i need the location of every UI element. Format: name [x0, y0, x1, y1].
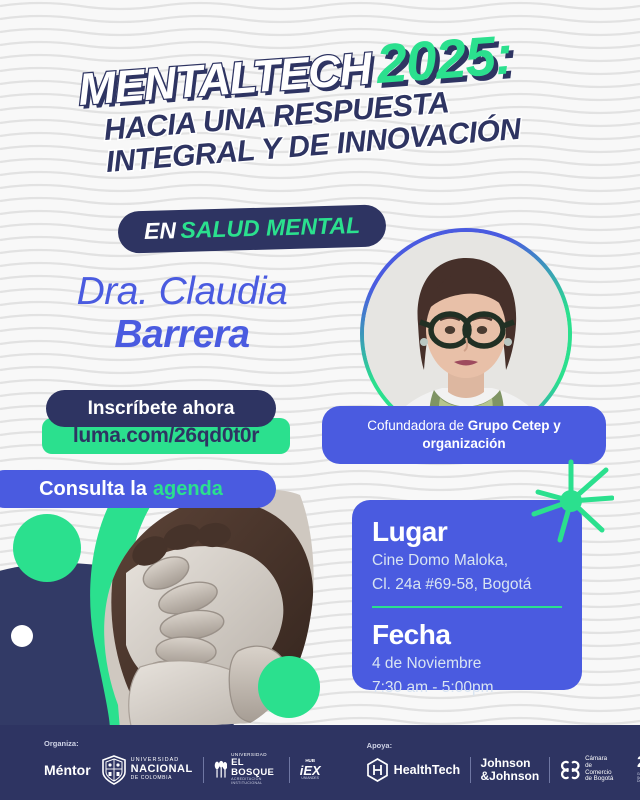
unal-crest-icon: [101, 755, 127, 785]
organizers-group: Organiza: Méntor UNIVERSID: [44, 739, 321, 785]
ccb-line-3: de Bogotá: [585, 776, 615, 783]
healthtech-logo: HealthTech: [367, 758, 460, 782]
title-year-text: 2025:: [374, 23, 514, 95]
event-poster: MENTALTECH2025: HACIA UNA RESPUESTA INTE…: [0, 0, 640, 800]
title-subject-pill: EN SALUD MENTAL: [117, 204, 386, 253]
supporters-group: Apoya: HealthTech Johnson &Johnson: [367, 741, 640, 783]
caption-plain: Cofundadora de: [367, 418, 468, 433]
el-bosque-text: UNIVERSIDAD EL BOSQUE ACREDITACIÓN INSTI…: [231, 753, 279, 785]
speaker-last-name: Barrera: [32, 313, 332, 358]
date-line-1: 4 de Noviembre: [372, 654, 562, 675]
speaker-name-block: Dra. Claudia Barrera: [32, 272, 332, 358]
johnson-johnson-logo: Johnson &Johnson: [481, 757, 540, 782]
ccb-text: Cámara de Comercio de Bogotá: [585, 756, 615, 784]
bosque-bottom: ACREDITACIÓN INSTITUCIONAL: [231, 778, 279, 786]
pill-text-salud-mental: SALUD MENTAL: [180, 212, 360, 243]
date-line-2: 7:30 am - 5:00pm: [372, 678, 562, 699]
speaker-first-name: Dra. Claudia: [32, 272, 332, 313]
pill-text-en: EN: [144, 217, 177, 244]
green-sparkle-icon: [528, 458, 614, 544]
apoya-label: Apoya:: [367, 741, 640, 750]
place-line-2: Cl. 24a #69-58, Bogotá: [372, 575, 562, 596]
camara-comercio-logo: Cámara de Comercio de Bogotá: [560, 756, 615, 784]
el-bosque-tree-icon: [214, 758, 228, 782]
jj-line-1: Johnson: [481, 757, 540, 769]
unal-text: UNIVERSIDAD NACIONAL DE COLOMBIA: [131, 758, 193, 781]
bosque-mid: EL BOSQUE: [231, 758, 279, 778]
iex-bottom: UNIANDES: [300, 777, 321, 780]
organiza-label: Organiza:: [44, 739, 321, 748]
place-line-1: Cine Domo Maloka,: [372, 551, 562, 572]
agenda-label-white: Consulta la: [39, 478, 147, 501]
iex-mid: iEX: [300, 764, 321, 777]
jj-line-2: &Johnson: [481, 770, 540, 782]
unal-logo: UNIVERSIDAD NACIONAL DE COLOMBIA: [101, 755, 193, 785]
ccb-line-2: de Comercio: [585, 763, 615, 777]
agenda-button[interactable]: Consulta la agenda: [0, 470, 276, 508]
ccb-mark-icon: [560, 758, 581, 782]
organizer-logos: Méntor UNIVERSIDAD NACIONAL: [44, 753, 321, 785]
unal-mid: NACIONAL: [131, 764, 193, 776]
supporter-logos: HealthTech Johnson &Johnson: [367, 755, 640, 783]
el-bosque-logo: UNIVERSIDAD EL BOSQUE ACREDITACIÓN INSTI…: [214, 753, 279, 785]
footer-separator: [203, 757, 204, 783]
mentor-logo: Méntor: [44, 762, 91, 778]
speaker-role-caption: Cofundadora de Grupo Cetep y organizació…: [322, 406, 606, 464]
footer-separator: [289, 757, 290, 783]
date-title: Fecha: [372, 619, 562, 651]
sponsor-footer: Organiza: Méntor UNIVERSID: [0, 725, 640, 800]
hub-iex-logo: HUB iEX UNIANDES: [300, 759, 321, 780]
register-button[interactable]: Inscríbete ahora: [46, 390, 276, 427]
agenda-label-green: agenda: [153, 478, 223, 501]
info-divider: [372, 606, 562, 608]
healthtech-hexagon-icon: [367, 758, 388, 782]
healthtech-text: HealthTech: [394, 763, 460, 777]
unal-bottom: DE COLOMBIA: [131, 776, 193, 781]
